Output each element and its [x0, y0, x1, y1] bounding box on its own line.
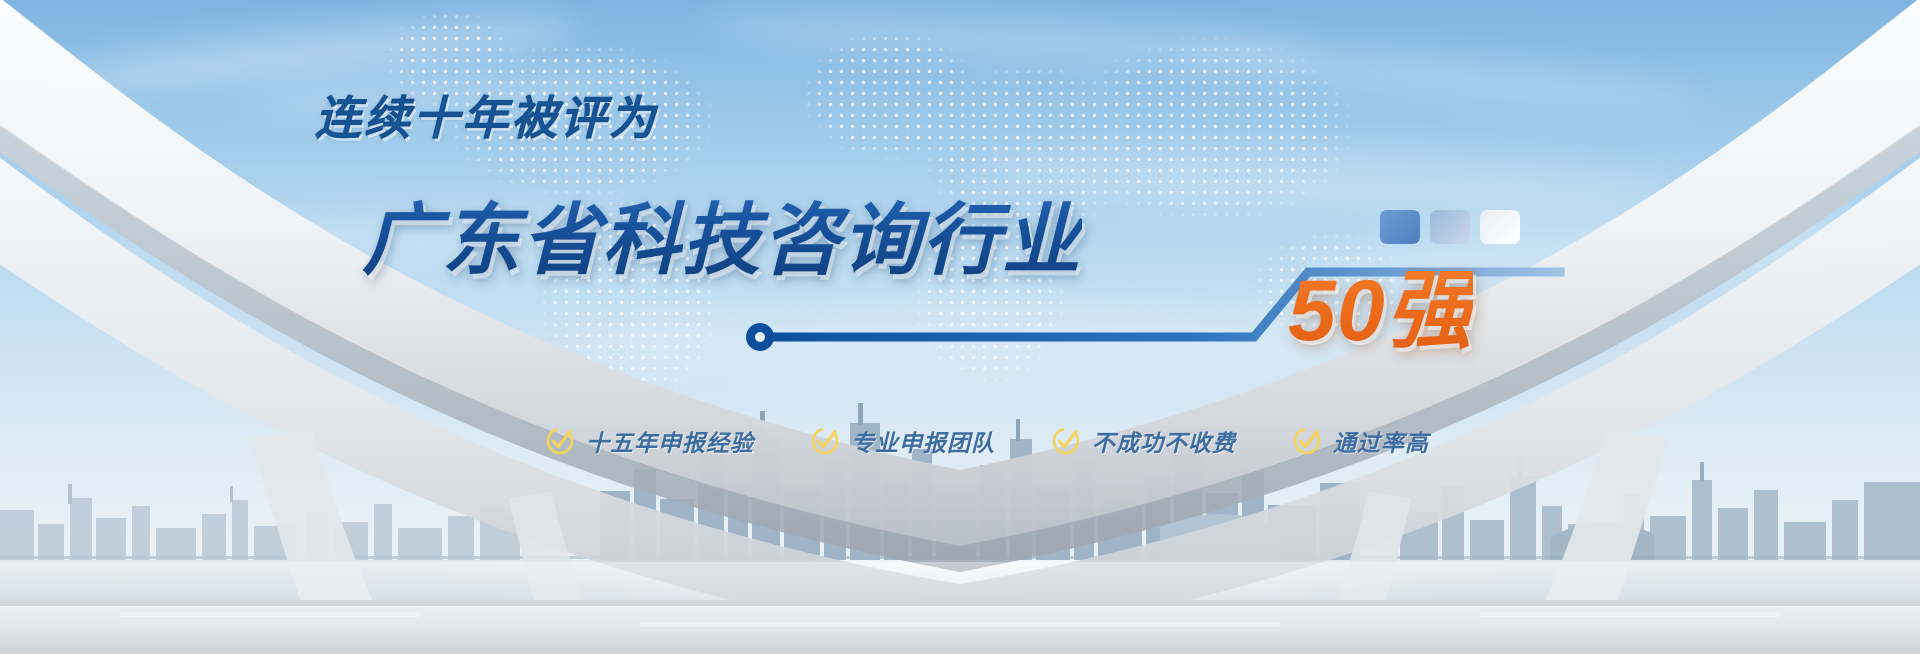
promo-banner: 连续十年被评为 广东省科技咨询行业 50强 十五年申报经验 [0, 0, 1920, 654]
check-circle-icon [810, 426, 840, 456]
feature-badge: 不成功不收费 [1051, 424, 1236, 458]
chip-dark-blue-icon [1380, 210, 1420, 244]
chip-mid-blue-icon [1430, 210, 1470, 244]
feature-badge-list: 十五年申报经验 专业申报团队 不成功不收费 [545, 424, 1429, 458]
banner-headline: 广东省科技咨询行业 [362, 178, 1082, 290]
banner-copy: 连续十年被评为 广东省科技咨询行业 50强 十五年申报经验 [0, 0, 1920, 654]
banner-eyebrow: 连续十年被评为 [315, 82, 658, 148]
rank-badge-text: 50强 [1288, 240, 1473, 365]
feature-badge-label: 专业申报团队 [851, 424, 995, 458]
feature-badge-label: 不成功不收费 [1092, 424, 1236, 458]
feature-badge: 专业申报团队 [810, 424, 995, 458]
feature-badge: 通过率高 [1292, 424, 1429, 458]
check-circle-icon [545, 426, 575, 456]
chip-white-icon [1480, 210, 1520, 244]
decorative-chips [1380, 210, 1520, 244]
feature-badge-label: 十五年申报经验 [586, 424, 754, 458]
check-circle-icon [1292, 426, 1322, 456]
check-circle-icon [1051, 426, 1081, 456]
feature-badge-label: 通过率高 [1333, 424, 1429, 458]
feature-badge: 十五年申报经验 [545, 424, 754, 458]
